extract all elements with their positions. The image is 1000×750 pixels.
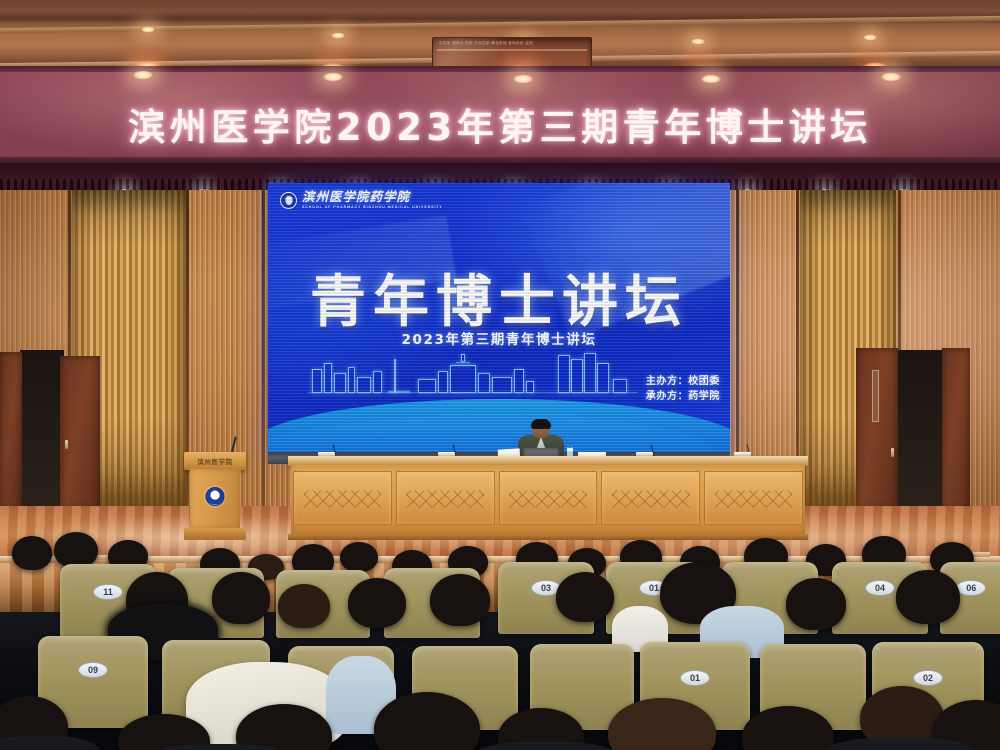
slide-logo-chinese: 滨州医学院药学院 [302, 191, 443, 204]
door-leaf-right-outer[interactable] [942, 348, 970, 510]
seat-number-badge: 11 [93, 584, 123, 600]
seat-number-badge: 01 [680, 670, 710, 686]
door-handle-icon [65, 440, 68, 449]
audience-head [278, 584, 330, 628]
table-front-panels [291, 465, 805, 535]
table-panel [499, 471, 598, 525]
slide-logo-english: SCHOOL OF PHARMACY BINZHOU MEDICAL UNIVE… [302, 206, 443, 210]
slide-institution-logo: 滨州医学院药学院 SCHOOL OF PHARMACY BINZHOU MEDI… [280, 191, 443, 209]
audience-clothing [470, 742, 620, 750]
seat-number-badge: 02 [913, 670, 943, 686]
audience-area: 11 03 01 04 06 09 [0, 528, 1000, 750]
auditorium-ceiling: 中控室 调音台 投影 灯光控制 舞台机械 音响系统 监视 [0, 0, 1000, 72]
doorway-opening-left [20, 350, 64, 508]
audience-head [786, 578, 846, 630]
audience-head [212, 572, 270, 624]
lecture-hall-photo: 中控室 调音台 投影 灯光控制 舞台机械 音响系统 监视 滨州医学院2023年第… [0, 0, 1000, 750]
slide-title: 青年博士讲坛 [268, 257, 730, 338]
banner-spotlight [880, 72, 902, 82]
banner-spotlight [700, 74, 722, 84]
door-leaf-left-inner[interactable] [60, 356, 100, 510]
door-handle-icon [891, 448, 894, 457]
university-emblem-icon [206, 487, 225, 506]
door-leaf-right-inner[interactable] [856, 348, 898, 510]
audience-head [12, 536, 52, 570]
audience-head [348, 578, 406, 628]
led-presentation-screen: 滨州医学院药学院 SCHOOL OF PHARMACY BINZHOU MEDI… [268, 183, 730, 455]
banner-spotlight [322, 72, 344, 82]
ceiling-light [140, 26, 156, 33]
podium-body [190, 469, 240, 529]
banner-spotlight [132, 70, 154, 80]
doorway-opening-right [898, 350, 944, 508]
speaker-podium: 滨州医学院 [184, 452, 246, 540]
table-panel [601, 471, 700, 525]
door-vision-panel-icon [872, 370, 879, 422]
seat-number-badge: 06 [956, 580, 986, 596]
ceiling-light [862, 34, 878, 41]
table-panel [396, 471, 495, 525]
event-banner-title: 滨州医学院2023年第三期青年博士讲坛 [0, 97, 1000, 151]
presenter-glasses-icon [533, 427, 549, 430]
audience-head [896, 570, 960, 624]
podium-top: 滨州医学院 [184, 452, 246, 470]
table-panel [704, 471, 803, 525]
audience-head [430, 574, 490, 626]
audience-clothing [0, 736, 100, 750]
seat-number-badge: 09 [78, 662, 108, 678]
door-leaf-left-outer[interactable] [0, 352, 22, 510]
audience-head [340, 542, 378, 572]
audience-head [556, 572, 614, 622]
table-panel [293, 471, 392, 525]
seat-number-badge: 04 [865, 580, 895, 596]
wall-seam [262, 190, 265, 520]
university-shield-icon [280, 192, 297, 209]
audience-head [54, 532, 98, 568]
banner-spotlight [512, 74, 534, 84]
podium-label: 滨州医学院 [184, 456, 246, 466]
slide-city-skyline-graphic [268, 333, 730, 393]
ceiling-light [330, 32, 346, 39]
ceiling-light [690, 38, 706, 45]
